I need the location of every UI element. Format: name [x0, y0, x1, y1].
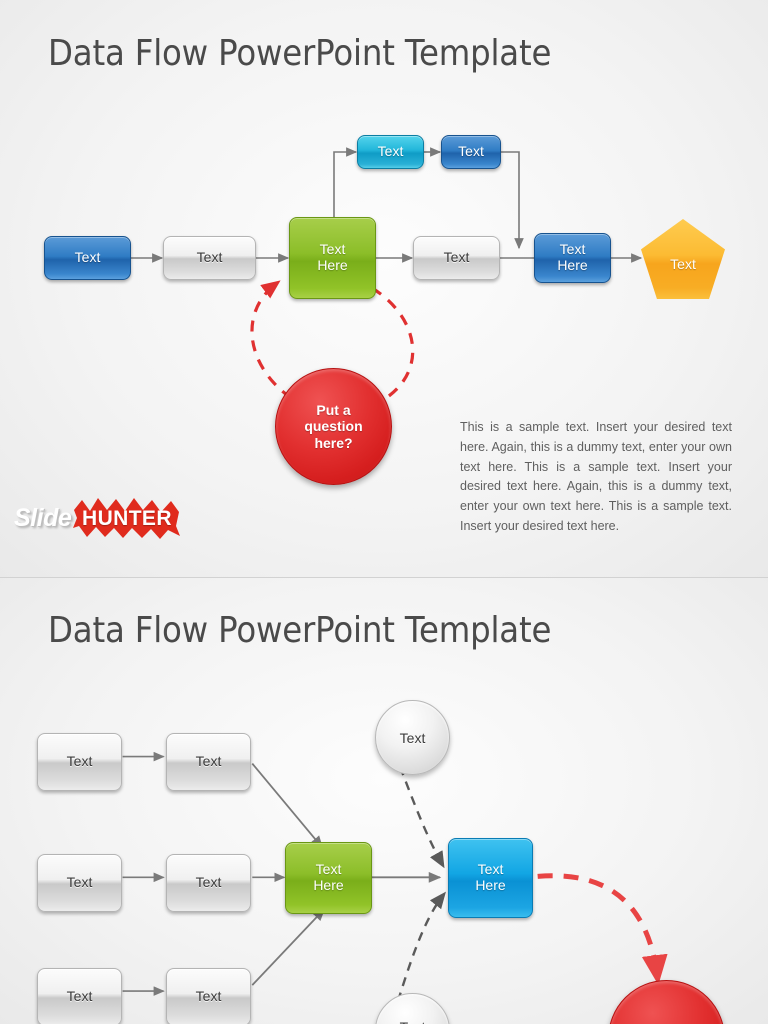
page-title: Data Flow PowerPoint Template [48, 33, 551, 74]
node-pentagon-end[interactable]: Text [641, 219, 725, 299]
node-label: Text [67, 754, 93, 770]
document-page: Data Flow PowerPoint Template [0, 0, 768, 1024]
node-cyan-top[interactable]: Text [357, 135, 424, 169]
node-gray-fourth[interactable]: Text [413, 236, 500, 280]
node-label-line2: Here [313, 878, 343, 894]
node-label: Text [400, 1019, 426, 1024]
logo-word-hunter: HUNTER [82, 507, 172, 531]
node-blue-hub-2[interactable]: Text Here [448, 838, 533, 918]
node-label-line1: Text [478, 862, 504, 878]
node-row1-a[interactable]: Text [37, 733, 122, 791]
node-label-line1: Text [316, 862, 342, 878]
node-label: Text [197, 250, 223, 266]
node-row3-b[interactable]: Text [166, 968, 251, 1024]
slide-1: Data Flow PowerPoint Template [0, 0, 768, 577]
node-label-line1: Text [560, 242, 586, 258]
node-row2-a[interactable]: Text [37, 854, 122, 912]
node-red-circle-2[interactable] [608, 980, 725, 1024]
question-line-2: question [304, 418, 362, 435]
node-green-hub[interactable]: Text Here [289, 217, 376, 299]
node-green-hub-2[interactable]: Text Here [285, 842, 372, 914]
body-paragraph: This is a sample text. Insert your desir… [460, 418, 732, 537]
node-row3-a[interactable]: Text [37, 968, 122, 1024]
node-circle-top[interactable]: Text [375, 700, 450, 775]
node-blue-top[interactable]: Text [441, 135, 501, 169]
node-label: Text [458, 144, 484, 160]
node-label: Text [67, 989, 93, 1005]
node-label: Text [196, 875, 222, 891]
node-label: Text [67, 875, 93, 891]
node-label-line2: Here [317, 258, 347, 274]
node-blue-end[interactable]: Text Here [534, 233, 611, 283]
node-gray-second[interactable]: Text [163, 236, 256, 280]
node-row2-b[interactable]: Text [166, 854, 251, 912]
node-label-line1: Text [320, 242, 346, 258]
page-title-2: Data Flow PowerPoint Template [48, 610, 551, 651]
node-label: Text [400, 730, 426, 746]
node-label: Text [75, 250, 101, 266]
node-label: Text [196, 754, 222, 770]
node-row1-b[interactable]: Text [166, 733, 251, 791]
slide-2: Data Flow PowerPoint Template [0, 577, 768, 1024]
node-label: Text [444, 250, 470, 266]
node-label-line2: Here [475, 878, 505, 894]
node-label-line2: Here [557, 258, 587, 274]
node-label: Text [670, 256, 696, 272]
node-circle-bottom[interactable]: Text [375, 993, 450, 1024]
slidehunter-logo[interactable]: Slide HUNTER [14, 496, 189, 544]
question-line-1: Put a [316, 402, 350, 419]
logo-word-slide: Slide [14, 504, 71, 533]
node-label: Text [378, 144, 404, 160]
question-line-3: here? [314, 435, 352, 452]
node-question-circle[interactable]: Put a question here? [275, 368, 392, 485]
node-blue-start[interactable]: Text [44, 236, 131, 280]
node-label: Text [196, 989, 222, 1005]
